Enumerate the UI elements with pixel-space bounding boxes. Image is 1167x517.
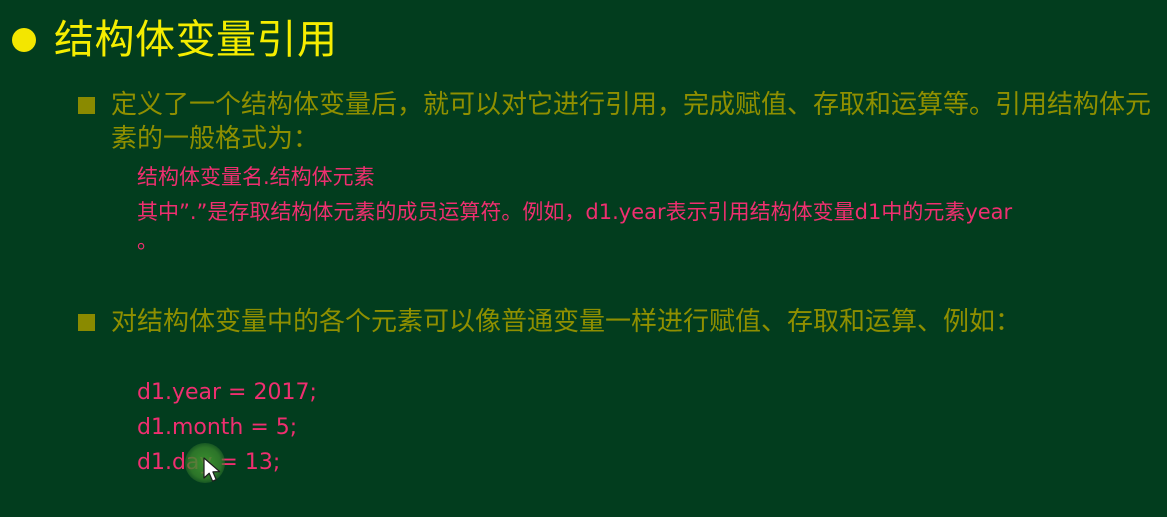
bullet-item-2-text: 对结构体变量中的各个元素可以像普通变量一样进行赋值、存取和运算、例如： bbox=[111, 305, 1021, 339]
subline-1-2: 其中”.”是存取结构体元素的成员运算符。例如，d1.year表示引用结构体变量d… bbox=[137, 197, 1012, 227]
code-line-2: d1.month = 5; bbox=[137, 410, 297, 445]
slide-canvas: 结构体变量引用 定义了一个结构体变量后，就可以对它进行引用，完成赋值、存取和运算… bbox=[0, 0, 1167, 517]
code-line-3: d1.day = 13; bbox=[137, 445, 280, 480]
bullet-item-1-text: 定义了一个结构体变量后，就可以对它进行引用，完成赋值、存取和运算等。引用结构体元… bbox=[111, 88, 1151, 156]
bullet-item-2: 对结构体变量中的各个元素可以像普通变量一样进行赋值、存取和运算、例如： bbox=[78, 305, 1153, 339]
bullet-item-1: 定义了一个结构体变量后，就可以对它进行引用，完成赋值、存取和运算等。引用结构体元… bbox=[78, 88, 1153, 156]
filled-square-bullet-icon bbox=[78, 314, 95, 331]
filled-circle-bullet-icon bbox=[12, 28, 36, 52]
page-title: 结构体变量引用 bbox=[54, 18, 338, 62]
subline-1-1: 结构体变量名.结构体元素 bbox=[137, 162, 375, 192]
filled-square-bullet-icon bbox=[78, 97, 95, 114]
subline-1-3: 。 bbox=[137, 226, 158, 256]
slide-title-row: 结构体变量引用 bbox=[12, 18, 338, 62]
code-line-1: d1.year = 2017; bbox=[137, 375, 317, 410]
